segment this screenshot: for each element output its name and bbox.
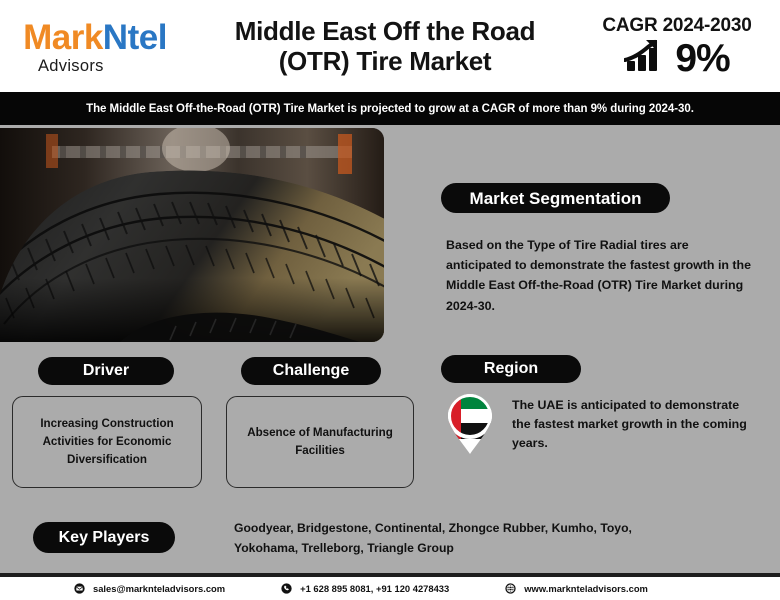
challenge-pill: Challenge (241, 357, 381, 385)
region-body: The UAE is anticipated to demonstrate th… (512, 396, 747, 454)
envelope-icon (74, 583, 85, 594)
page-title: Middle East Off the Road (OTR) Tire Mark… (190, 16, 580, 77)
driver-pill: Driver (38, 357, 174, 385)
key-players-pill: Key Players (33, 522, 175, 553)
footer-website[interactable]: www.marknteladvisors.com (505, 583, 648, 594)
region-pill: Region (441, 355, 581, 383)
footer-website-text: www.marknteladvisors.com (524, 583, 648, 594)
cagr-value-row: 9% (624, 39, 729, 78)
footer: sales@marknteladvisors.com +1 628 895 80… (0, 577, 780, 600)
challenge-card-text: Absence of Manufacturing Facilities (237, 424, 403, 460)
infographic-page: MarkNtel Advisors Middle East Off the Ro… (0, 0, 780, 600)
logo-ntel-text: Ntel (103, 18, 167, 57)
challenge-card: Absence of Manufacturing Facilities (226, 396, 414, 488)
driver-card: Increasing Construction Activities for E… (12, 396, 202, 488)
footer-email-text: sales@marknteladvisors.com (93, 583, 225, 594)
page-title-line-1: Middle East Off the Road (194, 16, 576, 46)
key-players-body: Goodyear, Bridgestone, Continental, Zhon… (234, 519, 664, 559)
cagr-label: CAGR 2024-2030 (602, 15, 751, 37)
headline-banner-text: The Middle East Off-the-Road (OTR) Tire … (86, 103, 694, 115)
footer-email[interactable]: sales@marknteladvisors.com (74, 583, 225, 594)
footer-phone[interactable]: +1 628 895 8081, +91 120 4278433 (281, 583, 449, 594)
market-segmentation-body: Based on the Type of Tire Radial tires a… (446, 235, 756, 316)
footer-phone-text: +1 628 895 8081, +91 120 4278433 (300, 583, 449, 594)
uae-flag-map-pin-icon (447, 393, 493, 455)
logo-mark-text: Mark (23, 18, 103, 57)
driver-card-text: Increasing Construction Activities for E… (23, 415, 191, 469)
cagr-value: 9% (675, 39, 729, 78)
growth-chart-icon (624, 39, 668, 78)
phone-icon (281, 583, 292, 594)
market-segmentation-pill: Market Segmentation (441, 183, 670, 213)
headline-banner: The Middle East Off-the-Road (OTR) Tire … (0, 92, 780, 125)
globe-icon (505, 583, 516, 594)
logo-subtitle: Advisors (38, 57, 104, 76)
tire-photo (0, 128, 384, 342)
cagr-block: CAGR 2024-2030 9% (580, 0, 780, 92)
header: MarkNtel Advisors Middle East Off the Ro… (0, 0, 780, 92)
page-title-line-2: (OTR) Tire Market (194, 46, 576, 76)
brand-logo: MarkNtel Advisors (0, 0, 190, 92)
logo-wordmark: MarkNtel (23, 20, 167, 55)
